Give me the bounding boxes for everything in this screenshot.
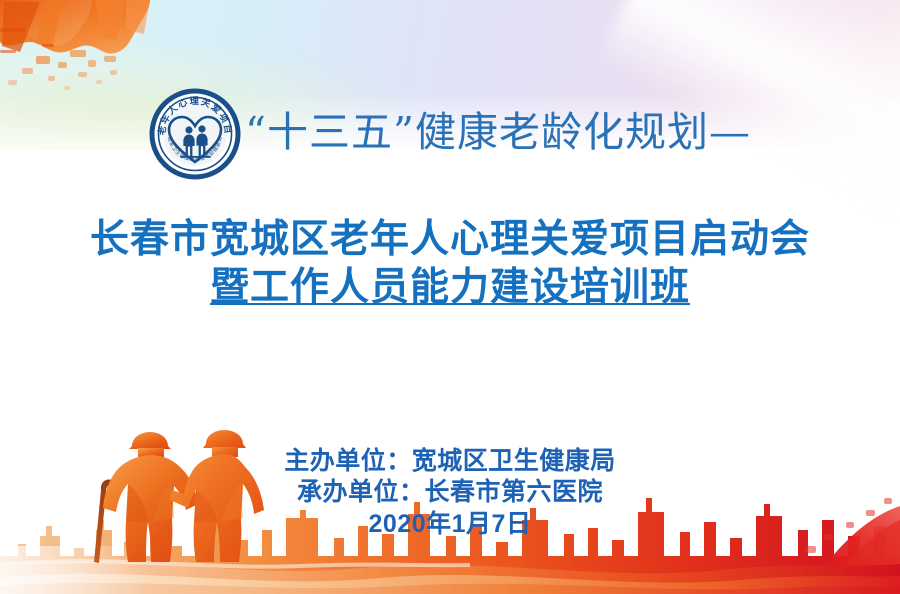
organizer-host: 主办单位：宽城区卫生健康局 [0,446,900,477]
main-title-line-1: 长春市宽城区老年人心理关爱项目启动会 [0,216,900,264]
headline-plan-title: “十三五”健康老龄化规划— [245,112,751,157]
event-date: 2020年1月7日 [0,508,900,540]
poster-content: 老年人心理关爱项目 国家卫生健康委员会老龄健康司 [0,0,900,594]
organizer-block: 主办单位：宽城区卫生健康局 承办单位：长春市第六医院 2020年1月7日 [0,446,900,540]
headline-row: 老年人心理关爱项目 国家卫生健康委员会老龄健康司 [0,88,900,180]
program-seal-logo: 老年人心理关爱项目 国家卫生健康委员会老龄健康司 [149,88,241,180]
poster-canvas: 老年人心理关爱项目 国家卫生健康委员会老龄健康司 [0,0,900,594]
main-title: 长春市宽城区老年人心理关爱项目启动会 暨工作人员能力建设培训班 [0,216,900,312]
organizer-coorganizer: 承办单位：长春市第六医院 [0,477,900,508]
main-title-line-2: 暨工作人员能力建设培训班 [0,264,900,312]
